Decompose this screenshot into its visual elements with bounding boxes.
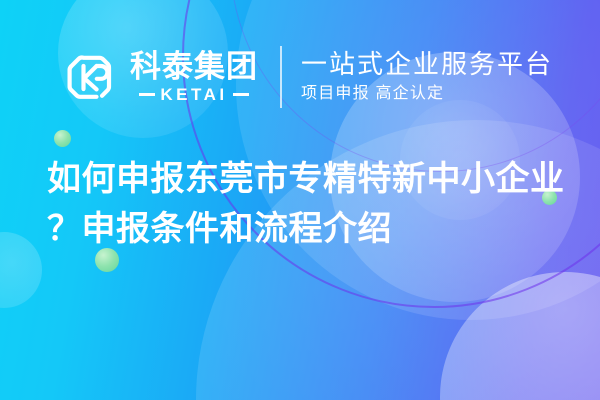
decor-dot-green-upper-left xyxy=(54,130,71,147)
slogan-secondary: 项目申报 高企认定 xyxy=(301,84,553,105)
promo-banner: 科泰集团 KETAI 一站式企业服务平台 项目申报 高企认定 如何申报东莞市专精… xyxy=(0,0,600,400)
dash-right-icon xyxy=(233,93,249,96)
banner-header: 科泰集团 KETAI 一站式企业服务平台 项目申报 高企认定 xyxy=(58,38,553,116)
page-title-line-1: 如何申报东莞市专精特新中小企业 xyxy=(47,155,567,205)
page-title: 如何申报东莞市专精特新中小企业 ？申报条件和流程介绍 xyxy=(47,155,567,254)
dash-left-icon xyxy=(139,93,155,96)
brand-logo[interactable]: 科泰集团 KETAI xyxy=(58,46,258,108)
slogan-block: 一站式企业服务平台 项目申报 高企认定 xyxy=(301,49,553,105)
ketai-kd-monogram-icon xyxy=(58,46,120,108)
brand-name-cn: 科泰集团 xyxy=(130,51,258,83)
page-title-line-2: ？申报条件和流程介绍 xyxy=(47,205,567,255)
brand-name-en-row: KETAI xyxy=(139,86,248,103)
decor-circle-bottom-right xyxy=(440,272,600,400)
brand-name-en: KETAI xyxy=(160,86,227,103)
decor-circle-left-edge xyxy=(0,232,42,308)
brand-wordmark: 科泰集团 KETAI xyxy=(130,51,258,103)
header-divider xyxy=(280,46,282,108)
slogan-primary: 一站式企业服务平台 xyxy=(301,49,553,80)
